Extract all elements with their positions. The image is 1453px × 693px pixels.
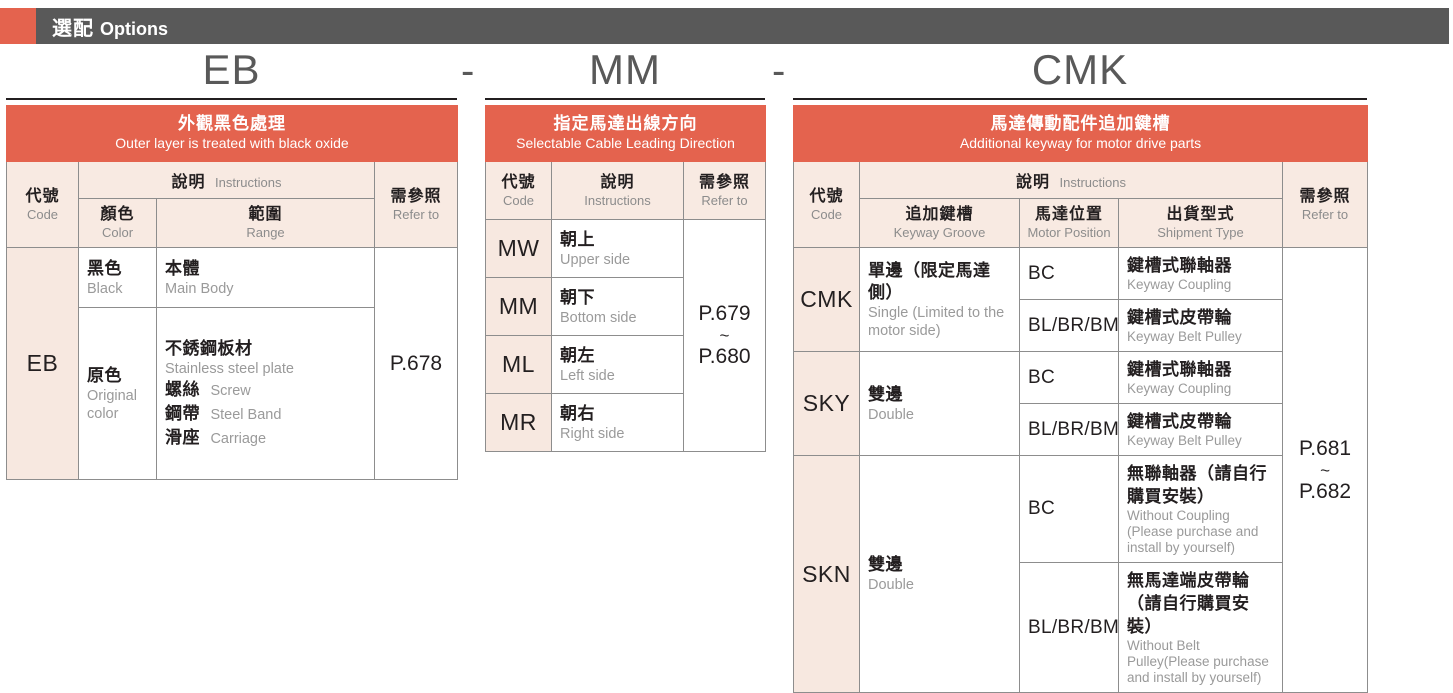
- group-rule-mm: [485, 98, 765, 100]
- header-position-cjk: 馬達位置: [1023, 205, 1115, 225]
- group-rule-cmk: [793, 98, 1367, 100]
- banner-title-cjk: 選配: [52, 18, 94, 40]
- header-refer-cjk: 需參照: [378, 187, 454, 207]
- table-title-cjk: 外觀黑色處理: [11, 113, 453, 134]
- header-cell-code: 代號 Code: [7, 162, 79, 248]
- banner-title-latin: Options: [100, 19, 168, 39]
- group-title-cmk: CMK: [793, 44, 1367, 98]
- direction-cjk: 朝右: [560, 403, 675, 425]
- table-row: SKN 雙邊 Double BC 無聯軸器（請自行購買安裝） Without C…: [794, 456, 1368, 563]
- table-subheader-row-1: 代號 Code 說明 Instructions 需參照 Refer: [7, 162, 458, 199]
- header-refer-latin: Refer to: [1286, 207, 1364, 223]
- code-cell-mm: MM: [486, 278, 552, 336]
- header-code-latin: Code: [489, 193, 548, 209]
- position-cell-bc: BC: [1020, 248, 1119, 300]
- group-title-eb: EB: [6, 44, 457, 98]
- header-cell-code: 代號 Code: [794, 162, 860, 248]
- range-item-latin: Screw: [210, 383, 250, 399]
- range-item-cjk: 鋼帶: [165, 404, 200, 423]
- spec-table-mm: 指定馬達出線方向 Selectable Cable Leading Direct…: [485, 105, 766, 452]
- code-cell-eb: EB: [7, 248, 79, 480]
- color-latin: Original color: [87, 387, 148, 423]
- header-range-cjk: 範圍: [160, 205, 371, 225]
- table-title-latin: Additional keyway for motor drive parts: [798, 134, 1363, 152]
- refer-cell-mm: P.679 ~ P.680: [684, 220, 766, 452]
- groove-cjk: 雙邊: [868, 384, 1011, 406]
- range-item-cjk: 螺絲: [165, 380, 200, 399]
- header-cell-refer: 需參照 Refer to: [684, 162, 766, 220]
- header-instructions-cjk: 說明: [555, 173, 680, 193]
- header-cell-range: 範圍 Range: [157, 199, 375, 248]
- shipment-latin: Keyway Belt Pulley: [1127, 329, 1274, 345]
- header-code-cjk: 代號: [10, 187, 75, 207]
- direction-latin: Upper side: [560, 251, 675, 269]
- option-group-eb: EB 外觀黑色處理 Outer layer is treated with bl…: [6, 44, 457, 480]
- spec-table-eb: 外觀黑色處理 Outer layer is treated with black…: [6, 105, 458, 480]
- refer-cell-eb: P.678: [375, 248, 458, 480]
- header-groove-latin: Keyway Groove: [863, 225, 1016, 241]
- groove-latin: Double: [868, 576, 1011, 594]
- header-instructions-latin: Instructions: [1059, 175, 1125, 190]
- color-cjk: 原色: [87, 365, 148, 387]
- header-shipment-cjk: 出貨型式: [1122, 205, 1279, 225]
- range-item-latin: Stainless steel plate: [165, 360, 366, 378]
- table-subheader-row-2: 追加鍵槽 Keyway Groove 馬達位置 Motor Position 出…: [794, 199, 1368, 248]
- shipment-cjk: 鍵槽式聯軸器: [1127, 358, 1274, 381]
- header-refer-cjk: 需參照: [1286, 187, 1364, 207]
- direction-cell-bottom: 朝下 Bottom side: [552, 278, 684, 336]
- shipment-cjk: 無聯軸器（請自行購買安裝）: [1127, 462, 1274, 508]
- shipment-cell-without-coupling: 無聯軸器（請自行購買安裝） Without Coupling (Please p…: [1119, 456, 1283, 563]
- shipment-cell-keyway-coupling: 鍵槽式聯軸器 Keyway Coupling: [1119, 352, 1283, 404]
- header-cell-refer: 需參照 Refer to: [1283, 162, 1368, 248]
- groove-cell-sky: 雙邊 Double: [860, 352, 1020, 456]
- range-item-cjk: 滑座: [165, 428, 200, 447]
- header-cell-instructions: 說明 Instructions: [79, 162, 375, 199]
- header-range-latin: Range: [160, 225, 371, 241]
- range-item-latin: Carriage: [210, 431, 266, 447]
- range-cell-original-items: 不銹鋼板材 Stainless steel plate 螺絲 Screw 鋼帶 …: [157, 308, 375, 480]
- color-cell-black: 黑色 Black: [79, 248, 157, 308]
- direction-cjk: 朝下: [560, 287, 675, 309]
- direction-cell-upper: 朝上 Upper side: [552, 220, 684, 278]
- groove-cjk: 單邊（限定馬達側）: [868, 260, 1011, 304]
- header-color-latin: Color: [82, 225, 153, 241]
- option-group-cmk: CMK 馬達傳動配件追加鍵槽 Additional keyway for mot…: [793, 44, 1367, 693]
- shipment-cjk: 鍵槽式皮帶輪: [1127, 306, 1274, 329]
- options-banner: 選配Options: [0, 8, 1449, 44]
- shipment-latin: Without Belt Pulley(Please purchase and …: [1127, 638, 1274, 686]
- code-cell-mr: MR: [486, 394, 552, 452]
- direction-latin: Left side: [560, 367, 675, 385]
- shipment-cjk: 無馬達端皮帶輪（請自行購買安裝）: [1127, 569, 1274, 638]
- header-refer-latin: Refer to: [687, 193, 762, 209]
- code-cell-sky: SKY: [794, 352, 860, 456]
- shipment-latin: Keyway Coupling: [1127, 277, 1274, 293]
- table-subheader-row-1: 代號 Code 說明 Instructions 需參照 Refer: [794, 162, 1368, 199]
- range-item-steel-band: 鋼帶 Steel Band: [165, 403, 366, 426]
- header-instructions-cjk: 說明: [1016, 174, 1050, 191]
- group-rule-eb: [6, 98, 457, 100]
- header-code-latin: Code: [797, 207, 856, 223]
- header-cell-instructions: 說明 Instructions: [860, 162, 1283, 199]
- table-title-cell-cmk: 馬達傳動配件追加鍵槽 Additional keyway for motor d…: [794, 106, 1368, 162]
- shipment-latin: Keyway Belt Pulley: [1127, 433, 1274, 449]
- code-cell-ml: ML: [486, 336, 552, 394]
- header-position-latin: Motor Position: [1023, 225, 1115, 241]
- table-subheader-row: 代號 Code 說明 Instructions 需參照 Refer: [486, 162, 766, 220]
- refer-page-end: P.680: [698, 345, 750, 368]
- table-title-cell-mm: 指定馬達出線方向 Selectable Cable Leading Direct…: [486, 106, 766, 162]
- color-latin: Black: [87, 280, 148, 298]
- banner-title: 選配Options: [52, 12, 168, 41]
- table-title-cell-eb: 外觀黑色處理 Outer layer is treated with black…: [7, 106, 458, 162]
- range-item-cjk: 不銹鋼板材: [165, 338, 366, 360]
- header-cell-color: 顏色 Color: [79, 199, 157, 248]
- range-item-latin: Steel Band: [210, 407, 281, 423]
- header-cell-code: 代號 Code: [486, 162, 552, 220]
- shipment-latin: Keyway Coupling: [1127, 381, 1274, 397]
- header-color-cjk: 顏色: [82, 205, 153, 225]
- direction-cell-right: 朝右 Right side: [552, 394, 684, 452]
- header-instructions-latin: Instructions: [555, 193, 680, 209]
- table-row: EB 黑色 Black 本體 Main Body P.678: [7, 248, 458, 308]
- table-title-cjk: 指定馬達出線方向: [490, 113, 761, 134]
- groove-cjk: 雙邊: [868, 554, 1011, 576]
- groove-cell-skn: 雙邊 Double: [860, 456, 1020, 693]
- code-cell-cmk: CMK: [794, 248, 860, 352]
- direction-cell-left: 朝左 Left side: [552, 336, 684, 394]
- header-cell-keyway-groove: 追加鍵槽 Keyway Groove: [860, 199, 1020, 248]
- header-instructions-latin: Instructions: [215, 175, 281, 190]
- header-groove-cjk: 追加鍵槽: [863, 205, 1016, 225]
- header-shipment-latin: Shipment Type: [1122, 225, 1279, 241]
- header-cell-instructions: 說明 Instructions: [552, 162, 684, 220]
- shipment-cjk: 鍵槽式皮帶輪: [1127, 410, 1274, 433]
- option-group-mm: MM 指定馬達出線方向 Selectable Cable Leading Dir…: [485, 44, 765, 452]
- refer-cell-cmk: P.681 ~ P.682: [1283, 248, 1368, 693]
- header-cell-motor-position: 馬達位置 Motor Position: [1020, 199, 1119, 248]
- separator-dash-1: -: [461, 44, 474, 98]
- code-cell-skn: SKN: [794, 456, 860, 693]
- shipment-latin: Without Coupling (Please purchase and in…: [1127, 508, 1274, 556]
- groove-cell-cmk: 單邊（限定馬達側） Single (Limited to the motor s…: [860, 248, 1020, 352]
- group-title-mm: MM: [485, 44, 765, 98]
- shipment-cell-without-belt-pulley: 無馬達端皮帶輪（請自行購買安裝） Without Belt Pulley(Ple…: [1119, 563, 1283, 693]
- table-row: SKY 雙邊 Double BC 鍵槽式聯軸器 Keyway Coupling: [794, 352, 1368, 404]
- spec-table-cmk: 馬達傳動配件追加鍵槽 Additional keyway for motor d…: [793, 105, 1368, 693]
- banner-accent-block: [0, 8, 36, 44]
- header-code-latin: Code: [10, 207, 75, 223]
- table-header-row: 馬達傳動配件追加鍵槽 Additional keyway for motor d…: [794, 106, 1368, 162]
- color-cell-original: 原色 Original color: [79, 308, 157, 480]
- refer-tilde: ~: [1283, 462, 1367, 479]
- header-cell-refer: 需參照 Refer to: [375, 162, 458, 248]
- direction-cjk: 朝上: [560, 229, 675, 251]
- shipment-cell-keyway-belt-pulley: 鍵槽式皮帶輪 Keyway Belt Pulley: [1119, 404, 1283, 456]
- range-item-screw: 螺絲 Screw: [165, 379, 366, 402]
- shipment-cell-keyway-coupling: 鍵槽式聯軸器 Keyway Coupling: [1119, 248, 1283, 300]
- shipment-cjk: 鍵槽式聯軸器: [1127, 254, 1274, 277]
- direction-latin: Right side: [560, 425, 675, 443]
- table-title-cjk: 馬達傳動配件追加鍵槽: [798, 113, 1363, 134]
- table-title-latin: Outer layer is treated with black oxide: [11, 134, 453, 152]
- range-item-cjk: 本體: [165, 258, 366, 280]
- header-instructions-cjk: 說明: [172, 174, 206, 191]
- refer-page-start: P.679: [698, 302, 750, 325]
- position-cell-bc: BC: [1020, 352, 1119, 404]
- range-cell-main-body: 本體 Main Body: [157, 248, 375, 308]
- color-cjk: 黑色: [87, 258, 148, 280]
- shipment-cell-keyway-belt-pulley: 鍵槽式皮帶輪 Keyway Belt Pulley: [1119, 300, 1283, 352]
- position-cell-bc: BC: [1020, 456, 1119, 563]
- refer-page-end: P.682: [1299, 480, 1351, 503]
- table-title-latin: Selectable Cable Leading Direction: [490, 134, 761, 152]
- refer-page-start: P.681: [1299, 437, 1351, 460]
- groove-latin: Double: [868, 406, 1011, 424]
- header-code-cjk: 代號: [489, 173, 548, 193]
- separator-dash-2: -: [772, 44, 785, 98]
- refer-tilde: ~: [684, 327, 765, 344]
- header-code-cjk: 代號: [797, 187, 856, 207]
- header-cell-shipment-type: 出貨型式 Shipment Type: [1119, 199, 1283, 248]
- table-header-row: 外觀黑色處理 Outer layer is treated with black…: [7, 106, 458, 162]
- direction-cjk: 朝左: [560, 345, 675, 367]
- position-cell-blbrbm: BL/BR/BM: [1020, 300, 1119, 352]
- direction-latin: Bottom side: [560, 309, 675, 327]
- position-cell-blbrbm: BL/BR/BM: [1020, 563, 1119, 693]
- range-item-carriage: 滑座 Carriage: [165, 427, 366, 450]
- option-groups: - - EB 外觀黑色處理 Outer layer is treated wit…: [0, 44, 1453, 558]
- code-cell-mw: MW: [486, 220, 552, 278]
- table-row: CMK 單邊（限定馬達側） Single (Limited to the mot…: [794, 248, 1368, 300]
- header-refer-latin: Refer to: [378, 207, 454, 223]
- position-cell-blbrbm: BL/BR/BM: [1020, 404, 1119, 456]
- table-header-row: 指定馬達出線方向 Selectable Cable Leading Direct…: [486, 106, 766, 162]
- table-row: MW 朝上 Upper side P.679 ~ P.680: [486, 220, 766, 278]
- range-item-latin: Main Body: [165, 280, 366, 298]
- groove-latin: Single (Limited to the motor side): [868, 304, 1011, 340]
- header-refer-cjk: 需參照: [687, 173, 762, 193]
